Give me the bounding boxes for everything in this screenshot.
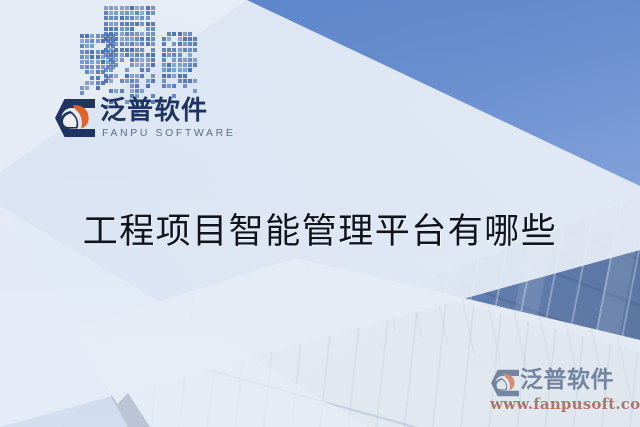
watermark: 泛普软件 www.fanpusoft.com (488, 365, 636, 419)
watermark-url: www.fanpusoft.com (490, 395, 640, 413)
watermark-brand-name: 泛普软件 (520, 365, 614, 395)
fanpu-shield-icon (490, 369, 520, 397)
tower-right (162, 32, 198, 100)
brand-name-cn: 泛普软件 (100, 96, 208, 126)
fanpu-shield-icon (54, 98, 96, 138)
page-title: 工程项目智能管理平台有哪些 (0, 203, 640, 254)
promo-banner: 泛普软件 FANPU SOFTWARE 工程项目智能管理平台有哪些 泛普软件 w… (0, 0, 640, 427)
brand-logo: 泛普软件 FANPU SOFTWARE (54, 96, 199, 144)
dot-matrix-skyline-icon (62, 4, 192, 100)
brand-name-en: FANPU SOFTWARE (102, 127, 235, 139)
